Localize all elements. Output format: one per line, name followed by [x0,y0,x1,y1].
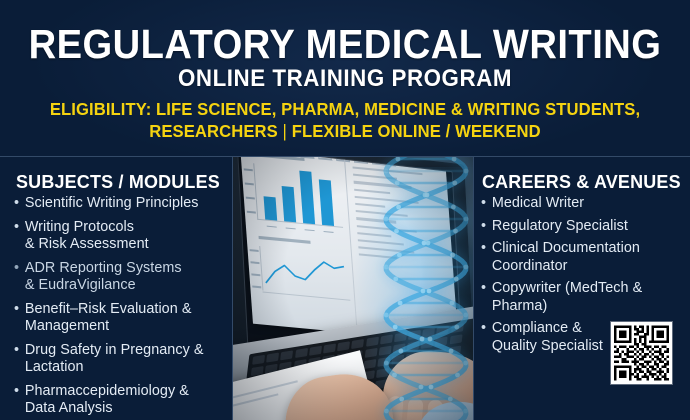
line-chart-y-tick [251,273,260,275]
keyboard-key [309,346,322,356]
bar-chart-x-tick [267,225,277,227]
subjects-panel: SUBJECTS / MODULES •Scientific Writing P… [0,157,232,420]
career-item-label: Compliance &Quality Specialist [492,320,603,354]
center-photo [233,157,473,420]
qr-code-matrix [614,325,669,381]
dashboard-bar [299,171,315,225]
page-subtitle: ONLINE TRAINING PROGRAM [24,66,666,92]
subject-item-label: Scientific Writing Principles [25,195,199,211]
bar-chart-title-line [253,157,305,161]
eligibility-line-2a: RESEARCHERS [149,121,278,141]
page-title: REGULATORY MEDICAL WRITING [24,22,666,66]
bar-chart-x-tick [286,227,296,229]
header-band: REGULATORY MEDICAL WRITING ONLINE TRAINI… [0,0,690,157]
keyboard-key [323,343,336,353]
keyboard-key [337,341,350,351]
line-chart-title-line [259,236,311,244]
subjects-heading: SUBJECTS / MODULES [16,171,220,193]
career-item-label: Copywriter (MedTech &Pharma) [492,280,642,314]
poster-canvas: REGULATORY MEDICAL WRITING ONLINE TRAINI… [0,0,690,420]
subject-item: •Scientific Writing Principles [13,195,225,213]
left-divider [232,157,233,420]
bullet-icon: • [14,301,19,319]
bullet-icon: • [481,280,486,298]
career-item: •Medical Writer [480,195,689,213]
dna-helix-icon [361,157,473,420]
bar-chart-y-tick [246,197,255,199]
subject-item: •Pharmaccepidemiology &Data Analysis [13,383,225,418]
subject-item-label: Pharmaccepidemiology &Data Analysis [25,383,189,417]
line-chart-y-tick [250,261,259,263]
dashboard-bar [282,186,297,222]
dashboard-bar [264,196,278,220]
eligibility-text: ELIGIBILITY: LIFE SCIENCE, PHARMA, MEDIC… [29,98,662,142]
bar-chart-y-tick [245,182,254,184]
bullet-icon: • [14,260,19,278]
bullet-icon: • [481,195,486,213]
career-item-label: Regulatory Specialist [492,218,628,234]
bullet-icon: • [481,320,486,338]
subjects-list: •Scientific Writing Principles•Writing P… [13,195,228,420]
keyboard-key [252,355,265,365]
subject-item-label: ADR Reporting Systems& EudraVigilance [25,260,182,294]
career-item: •Copywriter (MedTech &Pharma) [480,280,689,315]
career-item: •Regulatory Specialist [480,218,689,236]
dashboard-bar [319,179,334,226]
line-chart-y-tick [252,285,261,287]
eligibility-line-2b: FLEXIBLE ONLINE / WEEKEND [292,121,541,141]
bar-chart-x-tick [323,230,333,232]
subject-item: •Drug Safety in Pregnancy &Lactation [13,342,225,377]
bar-chart-y-tick [244,168,253,170]
bullet-icon: • [14,219,19,237]
subject-item: •Benefit–Risk Evaluation &Management [13,301,225,336]
eligibility-line-1: ELIGIBILITY: LIFE SCIENCE, PHARMA, MEDIC… [50,99,640,119]
keyboard-key [266,353,279,363]
career-item-label: Medical Writer [492,195,584,211]
eligibility-separator: | [278,121,292,141]
career-item: •Clinical DocumentationCoordinator [480,240,689,275]
bullet-icon: • [14,342,19,360]
subject-item-label: Benefit–Risk Evaluation &Management [25,301,192,335]
bullet-icon: • [481,218,486,236]
paper-line [233,380,298,403]
keyboard-key [280,350,293,360]
dashboard-line-chart [259,246,351,307]
keyboard-key [295,348,308,358]
bar-chart-y-tick [247,211,256,213]
bullet-icon: • [14,383,19,401]
career-item-label: Clinical DocumentationCoordinator [492,240,640,274]
bar-chart-x-tick [305,229,315,231]
subject-item-label: Drug Safety in Pregnancy &Lactation [25,342,204,376]
bullet-icon: • [14,195,19,213]
dashboard-bar-chart [253,163,343,234]
subject-item-label: Writing Protocols& Risk Assessment [25,219,149,253]
line-chart-y-tick [250,249,259,251]
subject-item: •Writing Protocols& Risk Assessment [13,219,225,254]
qr-code[interactable] [611,322,672,384]
bullet-icon: • [481,240,486,258]
careers-heading: CAREERS & AVENUES [482,171,681,193]
subject-item: •ADR Reporting Systems& EudraVigilance [13,260,225,295]
right-divider [473,157,474,420]
